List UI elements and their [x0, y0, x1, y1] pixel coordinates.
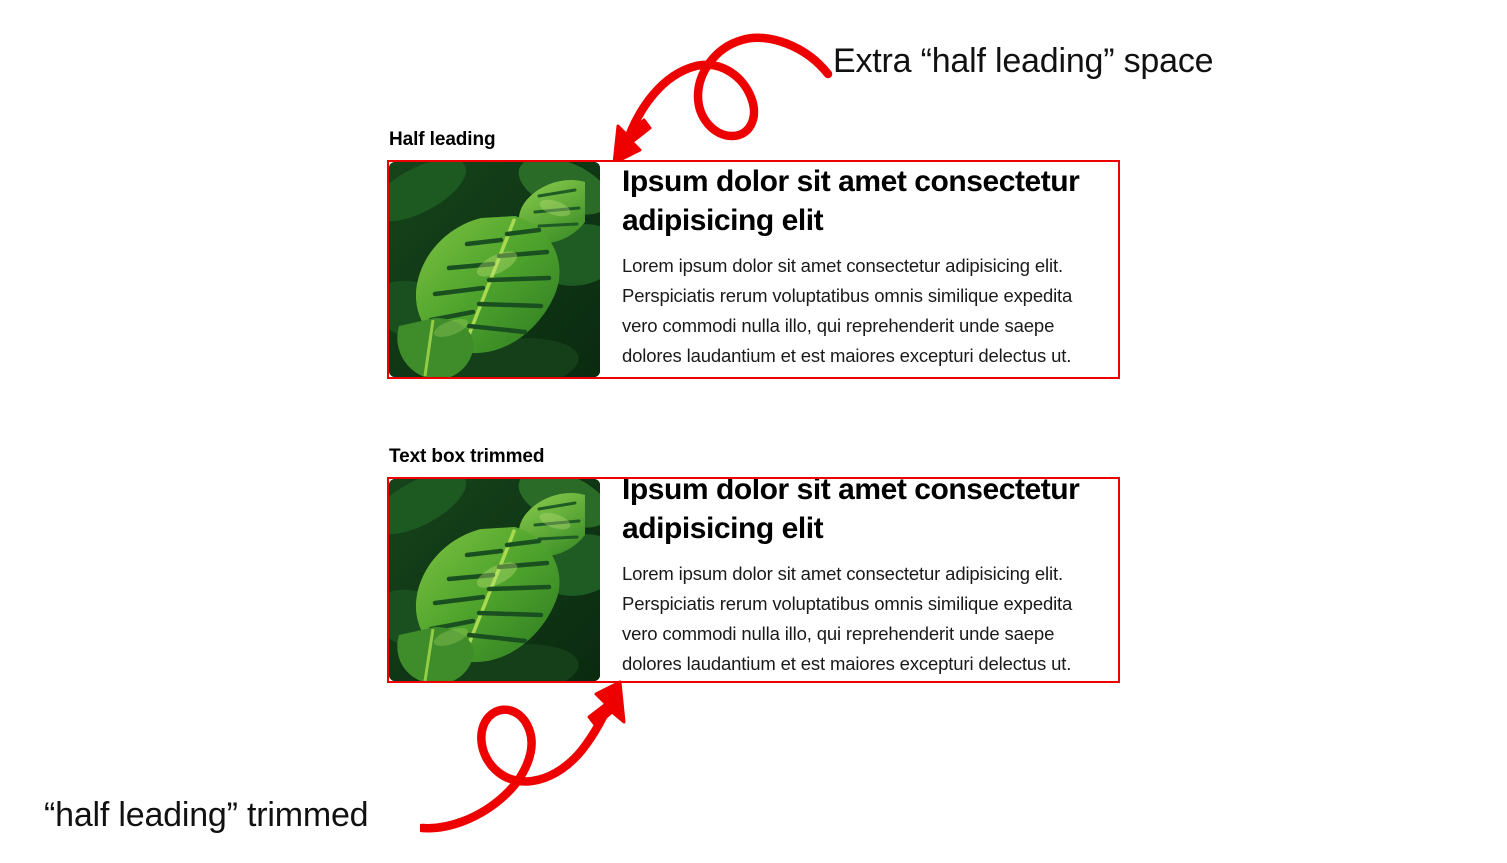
demo-card-text-box-trimmed: Ipsum dolor sit amet consectetur adipisi…: [387, 477, 1120, 683]
card-heading: Ipsum dolor sit amet consectetur adipisi…: [622, 477, 1104, 548]
annotation-arrow-bottom: [420, 678, 665, 833]
card-body-text-box-trimmed: Ipsum dolor sit amet consectetur adipisi…: [600, 479, 1118, 679]
card-image-text-box-trimmed: [389, 479, 600, 681]
monstera-leaves-photo: [389, 162, 600, 377]
annotation-label-bottom: “half leading” trimmed: [44, 796, 368, 835]
section-label-half-leading: Half leading: [389, 129, 495, 152]
card-paragraph: Lorem ipsum dolor sit amet consectetur a…: [622, 251, 1104, 371]
section-label-text-box-trimmed: Text box trimmed: [389, 446, 544, 469]
card-image-half-leading: [389, 162, 600, 377]
monstera-leaves-photo: [389, 479, 600, 681]
annotation-arrow-top: [592, 22, 842, 177]
card-body-half-leading: Ipsum dolor sit amet consectetur adipisi…: [600, 162, 1118, 371]
card-heading: Ipsum dolor sit amet consectetur adipisi…: [622, 162, 1104, 240]
annotation-label-top: Extra “half leading” space: [833, 42, 1213, 81]
card-paragraph: Lorem ipsum dolor sit amet consectetur a…: [622, 559, 1104, 679]
demo-card-half-leading: Ipsum dolor sit amet consectetur adipisi…: [387, 160, 1120, 379]
